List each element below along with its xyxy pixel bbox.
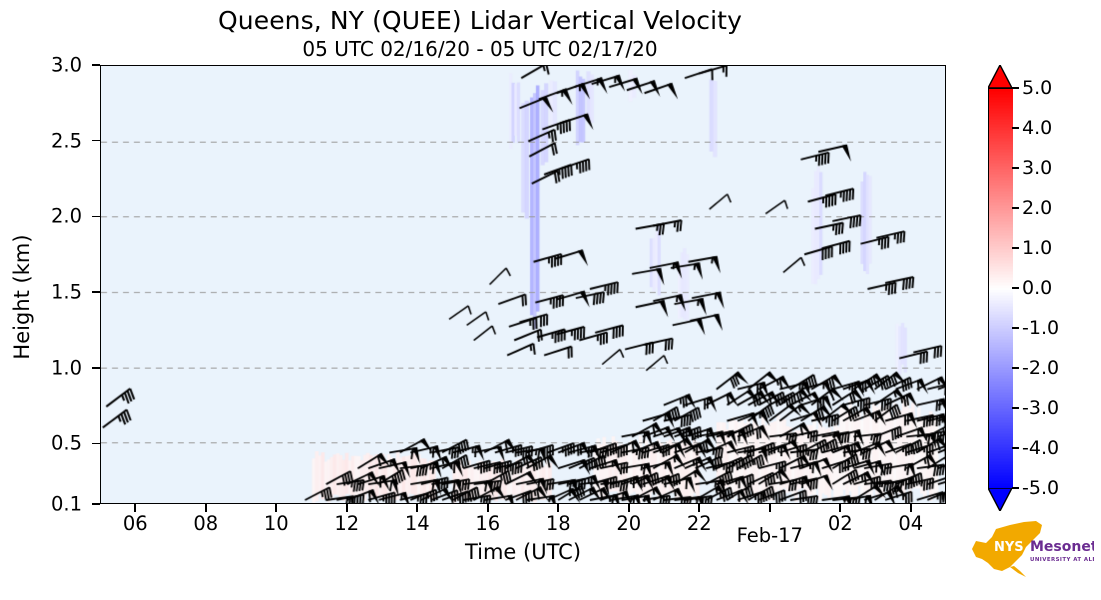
- colorbar-tick-label-7: -2.0: [1022, 357, 1059, 379]
- x-tick-mark: [346, 504, 348, 512]
- x-tick-mark: [487, 504, 489, 512]
- colorbar-tick-label-8: -3.0: [1022, 397, 1059, 419]
- x-tick-mark: [698, 504, 700, 512]
- logo-tagline-text: UNIVERSITY AT ALBANY: [1030, 557, 1094, 563]
- y-tick-mark: [92, 503, 100, 505]
- colorbar-tick-label-6: -1.0: [1022, 317, 1059, 339]
- x-axis-title: Time (UTC): [100, 540, 946, 564]
- x-tick-mark: [134, 504, 136, 512]
- colorbar-tick-label-3: 2.0: [1022, 197, 1052, 219]
- colorbar-tick-label-5: 0.0: [1022, 277, 1052, 299]
- x-tick-mark: [769, 504, 771, 512]
- x-tick-mark: [275, 504, 277, 512]
- colorbar-tick-mark: [1012, 407, 1019, 408]
- y-tick-mark: [92, 443, 100, 445]
- colorbar-tick-label-10: -5.0: [1022, 477, 1059, 499]
- colorbar-tick-mark: [1012, 207, 1019, 208]
- nys-mesonet-logo: NYS Mesonet UNIVERSITY AT ALBANY: [966, 519, 1094, 581]
- colorbar-tick-label-1: 4.0: [1022, 117, 1052, 139]
- lidar-velocity-canvas: [101, 66, 945, 503]
- colorbar-extend-min-arrow: [988, 488, 1012, 511]
- chart-title: Queens, NY (QUEE) Lidar Vertical Velocit…: [0, 6, 960, 35]
- colorbar-tick-label-2: 3.0: [1022, 157, 1052, 179]
- colorbar-tick-label-4: 1.0: [1022, 237, 1052, 259]
- colorbar-tick-mark: [1012, 287, 1019, 288]
- colorbar-gradient: [988, 88, 1012, 488]
- y-tick-mark: [92, 367, 100, 369]
- colorbar-tick-mark: [1012, 87, 1019, 88]
- x-tick-mark: [205, 504, 207, 512]
- x-tick-label-11: 04: [866, 512, 956, 535]
- x-tick-mark: [628, 504, 630, 512]
- y-tick-mark: [92, 64, 100, 66]
- x-tick-mark: [839, 504, 841, 512]
- colorbar-tick-mark: [1012, 327, 1019, 328]
- colorbar-canvas: [989, 89, 1013, 489]
- colorbar-tick-mark: [1012, 447, 1019, 448]
- chart-subtitle: 05 UTC 02/16/20 - 05 UTC 02/17/20: [0, 37, 960, 61]
- colorbar-tick-mark: [1012, 247, 1019, 248]
- x-tick-mark: [557, 504, 559, 512]
- logo-brand-text: NYS: [994, 540, 1024, 555]
- plot-area: [100, 65, 946, 504]
- colorbar-tick-label-0: 5.0: [1022, 77, 1052, 99]
- colorbar-tick-mark: [1012, 167, 1019, 168]
- colorbar-tick-label-9: -4.0: [1022, 437, 1059, 459]
- colorbar: 5.04.03.02.01.00.0-1.0-2.0-3.0-4.0-5.0: [988, 65, 1012, 510]
- y-axis-title: Height (km): [10, 97, 34, 497]
- colorbar-tick-mark: [1012, 487, 1019, 488]
- colorbar-extend-max-arrow: [988, 65, 1012, 88]
- colorbar-tick-mark: [1012, 127, 1019, 128]
- y-tick-mark: [92, 216, 100, 218]
- y-tick-mark: [92, 291, 100, 293]
- y-tick-mark: [92, 140, 100, 142]
- y-tick-label-6: 3.0: [20, 54, 82, 77]
- logo-name-text: Mesonet: [1030, 539, 1094, 555]
- x-tick-mark: [910, 504, 912, 512]
- x-tick-mark: [416, 504, 418, 512]
- colorbar-tick-mark: [1012, 367, 1019, 368]
